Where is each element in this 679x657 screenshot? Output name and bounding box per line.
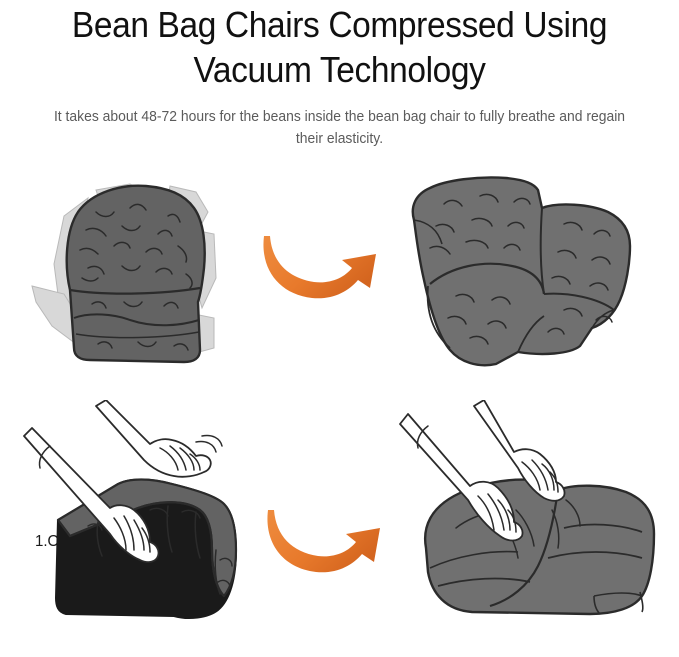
sofa-body xyxy=(425,480,654,614)
curved-arrow-step3-to-step4 xyxy=(262,502,390,586)
page-title: Bean Bag Chairs Compressed Using Vacuum … xyxy=(24,0,655,92)
hand-patting xyxy=(96,400,222,477)
step-2: 2.Sofa wili be very wrinkled? xyxy=(392,168,657,383)
compressed-vacuum-packed-block-illustration xyxy=(18,168,268,383)
step-4: 4.Press the sofa firmly xyxy=(398,400,666,650)
infographic-page: Bean Bag Chairs Compressed Using Vacuum … xyxy=(0,0,679,657)
wrinkled-sofa-illustration xyxy=(392,168,657,383)
header: Bean Bag Chairs Compressed Using Vacuum … xyxy=(0,0,679,150)
page-subtitle: It takes about 48-72 hours for the beans… xyxy=(14,92,666,150)
compressed-block-body xyxy=(67,186,205,362)
wrinkled-sofa-body xyxy=(413,177,630,365)
hands-pressing-sofa-illustration xyxy=(398,400,666,630)
hands-pulling-patting-sofa-illustration xyxy=(10,400,270,630)
step-1: 1.Open the compressed sofa xyxy=(18,168,268,383)
curved-arrow-step1-to-step2 xyxy=(258,228,386,312)
step-3: 3.Pull and Pat the sofa xyxy=(10,400,270,650)
